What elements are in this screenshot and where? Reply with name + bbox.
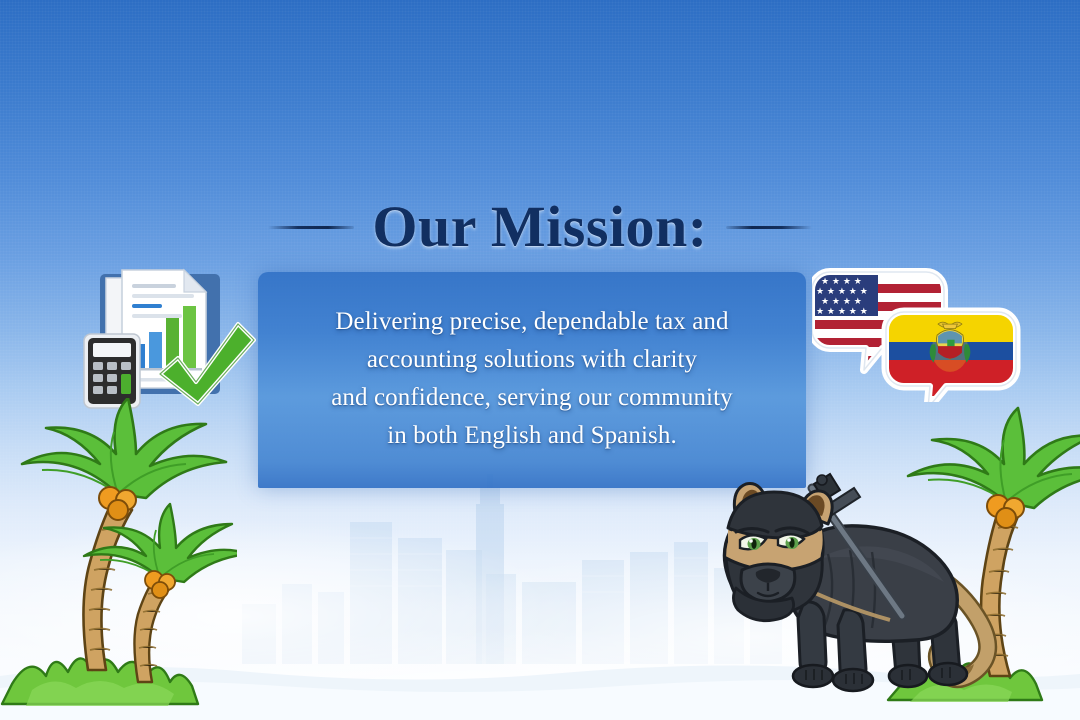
mission-line: accounting solutions with clarity	[367, 341, 697, 379]
title-rule-right	[726, 226, 812, 229]
mission-slide: Our Mission: Delivering precise, dependa…	[0, 0, 1080, 720]
title-rule-left	[268, 226, 354, 229]
title-row: Our Mission:	[0, 198, 1080, 256]
page-title: Our Mission:	[372, 198, 707, 256]
mission-line: Delivering precise, dependable tax and	[335, 303, 728, 341]
mission-line: and confidence, serving our community	[331, 379, 733, 417]
mission-text-panel: Delivering precise, dependable tax and a…	[258, 272, 806, 488]
mission-line: in both English and Spanish.	[387, 417, 677, 455]
